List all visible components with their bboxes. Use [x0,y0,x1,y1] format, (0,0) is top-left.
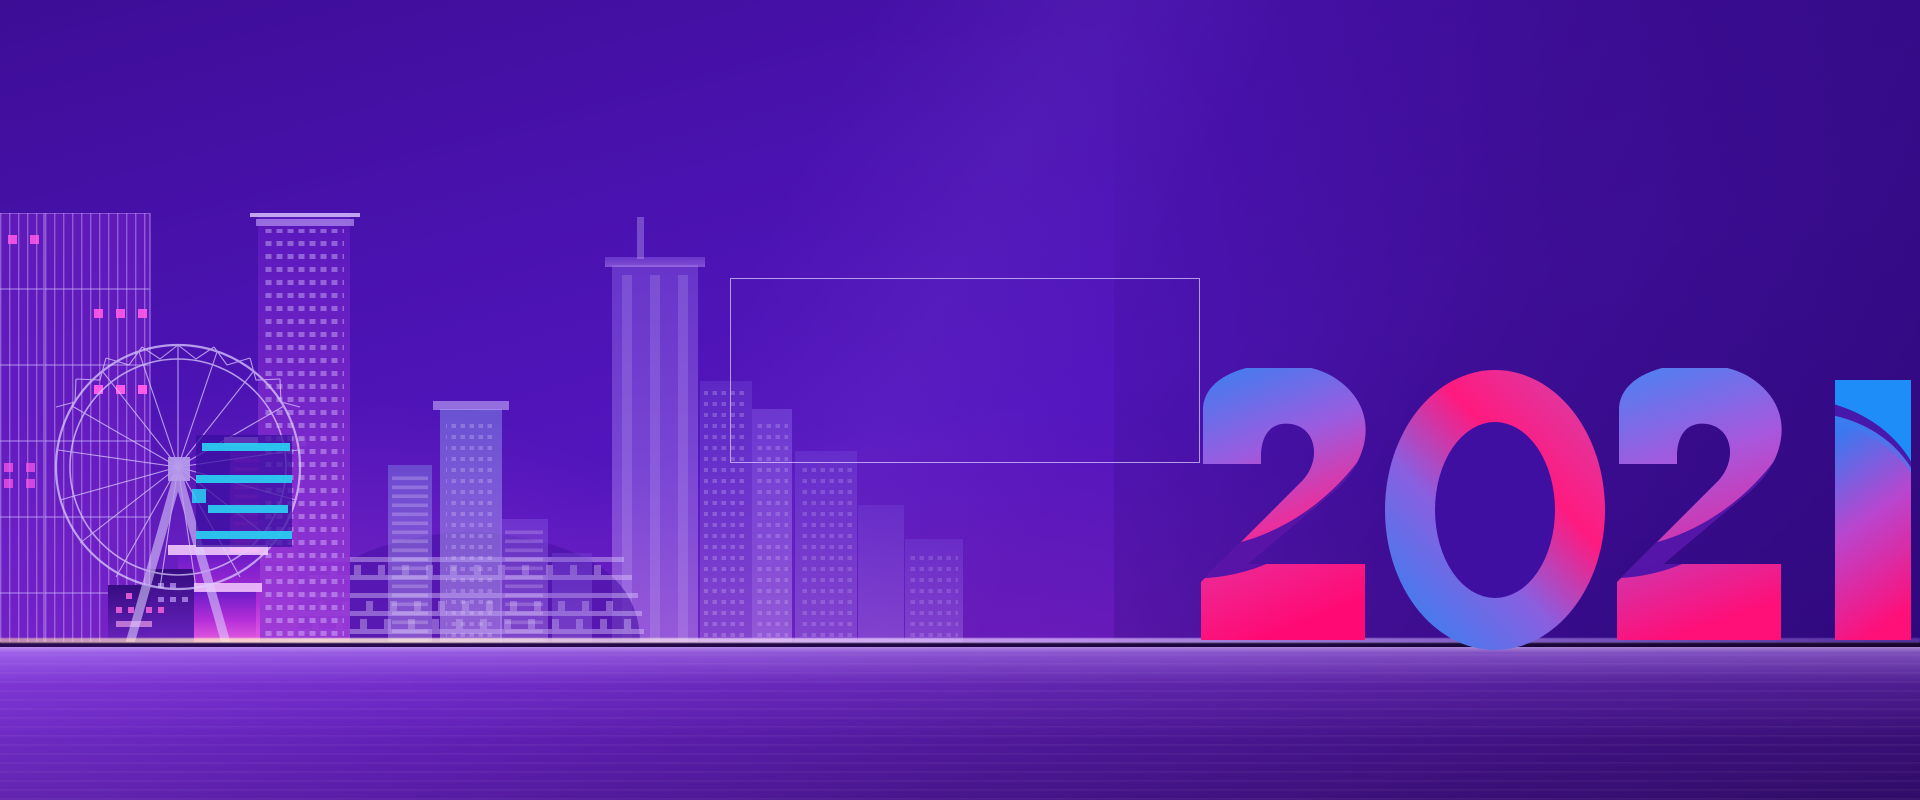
tagline-frame [730,278,1200,463]
year-2021-graphic [1195,368,1920,643]
digit-1 [1793,372,1920,640]
digit-2-first [1195,368,1371,640]
water-ripple [0,645,1920,800]
banner-canvas [0,0,1920,800]
